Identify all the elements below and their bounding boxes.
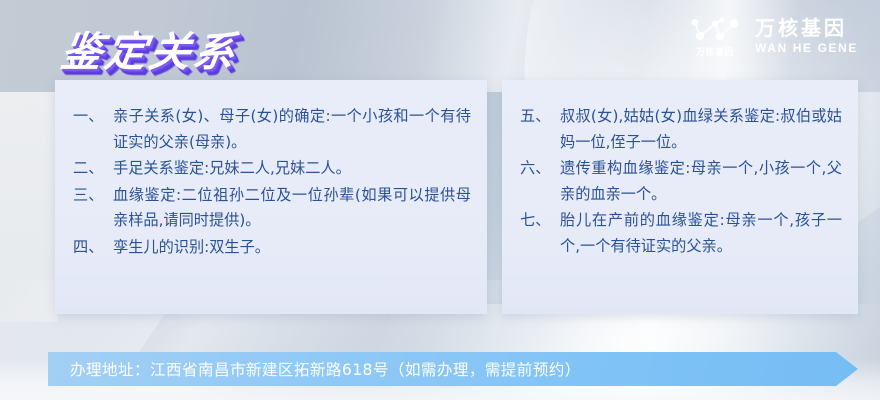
list-item-number: 五、	[520, 104, 560, 130]
list-item-text: 手足关系鉴定:兄妹二人,兄妹二人。	[113, 156, 471, 182]
brand-name-en: WAN HE GENE	[755, 42, 858, 54]
list-item-text: 亲子关系(女)、母子(女)的确定:一个小孩和一个有待证实的父亲(母亲)。	[113, 104, 471, 155]
list-item-number: 一、	[73, 104, 113, 130]
address-text: 办理地址：江西省南昌市新建区拓新路618号（如需办理，需提前预约）	[70, 352, 581, 386]
list-item: 七、 胎儿在产前的血缘鉴定:母亲一个,孩子一个,一个有待证实的父亲。	[520, 208, 842, 259]
card-left-content: 一、 亲子关系(女)、母子(女)的确定:一个小孩和一个有待证实的父亲(母亲)。 …	[55, 80, 487, 260]
background-left-panel	[0, 92, 58, 322]
list-item: 三、 血缘鉴定:二位祖孙二位及一位孙辈(如果可以提供母亲样品,请同时提供)。	[73, 183, 471, 234]
header: 鉴定关系	[0, 0, 880, 92]
list-item-text: 孪生儿的识别:双生子。	[113, 235, 471, 261]
list-item: 六、 遗传重构血缘鉴定:母亲一个,小孩一个,父亲的血亲一个。	[520, 156, 842, 207]
list-item-number: 二、	[73, 156, 113, 182]
brand-lockup: 万核基因 万核基因 WAN HE GENE	[689, 16, 858, 57]
list-item: 四、 孪生儿的识别:双生子。	[73, 235, 471, 261]
brand-mark-caption: 万核基因	[696, 48, 734, 57]
page-title: 鉴定关系	[57, 18, 243, 78]
card-right-content: 五、 叔叔(女),姑姑(女)血绿关系鉴定:叔伯或姑妈一位,侄子一位。 六、 遗传…	[502, 80, 858, 259]
list-item-number: 三、	[73, 183, 113, 209]
list-item: 二、 手足关系鉴定:兄妹二人,兄妹二人。	[73, 156, 471, 182]
list-item-text: 胎儿在产前的血缘鉴定:母亲一个,孩子一个,一个有待证实的父亲。	[560, 208, 842, 259]
list-item-number: 六、	[520, 156, 560, 182]
brand-name-cn: 万核基因	[755, 19, 858, 40]
list-item: 五、 叔叔(女),姑姑(女)血绿关系鉴定:叔伯或姑妈一位,侄子一位。	[520, 104, 842, 155]
poster-root: 鉴定关系	[0, 0, 880, 400]
brand-mark: 万核基因	[689, 16, 741, 57]
list-item-number: 七、	[520, 208, 560, 234]
service-list-card-left: 一、 亲子关系(女)、母子(女)的确定:一个小孩和一个有待证实的父亲(母亲)。 …	[55, 80, 487, 314]
list-item: 一、 亲子关系(女)、母子(女)的确定:一个小孩和一个有待证实的父亲(母亲)。	[73, 104, 471, 155]
service-list-card-right: 五、 叔叔(女),姑姑(女)血绿关系鉴定:叔伯或姑妈一位,侄子一位。 六、 遗传…	[502, 80, 858, 314]
list-item-text: 血缘鉴定:二位祖孙二位及一位孙辈(如果可以提供母亲样品,请同时提供)。	[113, 183, 471, 234]
list-item-number: 四、	[73, 235, 113, 261]
list-item-text: 叔叔(女),姑姑(女)血绿关系鉴定:叔伯或姑妈一位,侄子一位。	[560, 104, 842, 155]
brand-names: 万核基因 WAN HE GENE	[755, 19, 858, 54]
list-item-text: 遗传重构血缘鉴定:母亲一个,小孩一个,父亲的血亲一个。	[560, 156, 842, 207]
molecule-network-icon	[689, 16, 741, 46]
address-banner: 办理地址：江西省南昌市新建区拓新路618号（如需办理，需提前预约）	[48, 352, 858, 386]
